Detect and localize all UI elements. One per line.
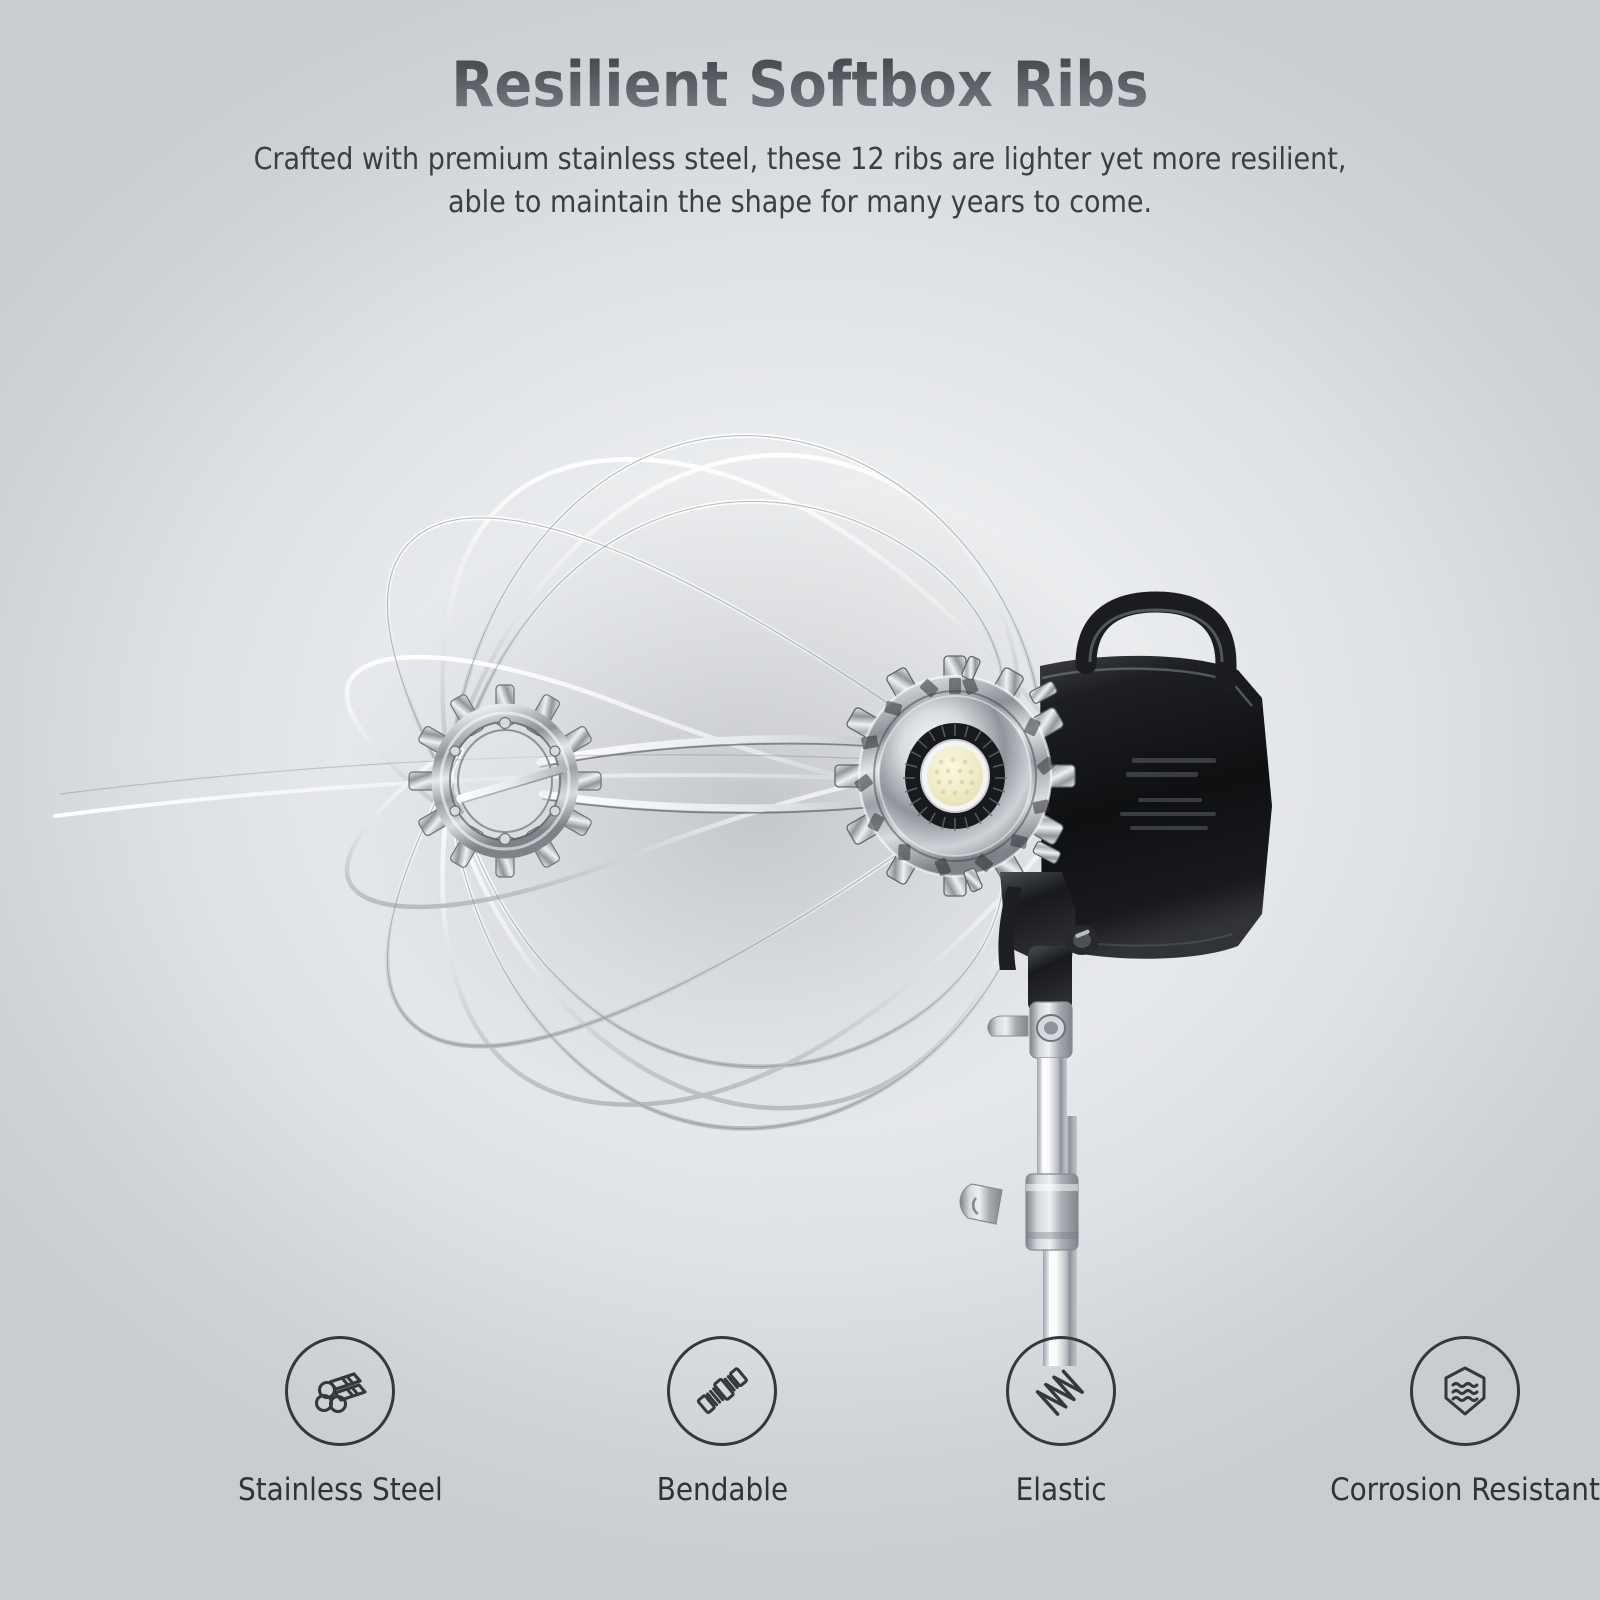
spring-zigzag-icon <box>1006 1336 1116 1446</box>
feature-label: Corrosion Resistant <box>1330 1472 1600 1508</box>
product-feature-banner: Resilient Softbox Ribs Crafted with prem… <box>0 0 1600 1600</box>
feature-item-elastic: Elastic <box>1006 1336 1116 1508</box>
feature-label: Bendable <box>657 1472 788 1508</box>
feature-list: Stainless Steel <box>0 1336 1600 1508</box>
header: Resilient Softbox Ribs Crafted with prem… <box>0 0 1600 224</box>
page-title: Resilient Softbox Ribs <box>0 0 1600 117</box>
steel-rods-icon <box>285 1336 395 1446</box>
feature-item-bendable: Bendable <box>657 1336 788 1508</box>
shield-waves-icon <box>1410 1336 1520 1446</box>
feature-item-stainless-steel: Stainless Steel <box>238 1336 443 1508</box>
feature-label: Stainless Steel <box>238 1472 443 1508</box>
feature-item-corrosion-resistant: Corrosion Resistant <box>1330 1336 1600 1508</box>
feature-label: Elastic <box>1016 1472 1107 1508</box>
bendable-hose-icon <box>667 1336 777 1446</box>
product-image <box>0 246 1600 1366</box>
page-subtitle: Crafted with premium stainless steel, th… <box>240 117 1360 224</box>
cob-led-chip <box>927 746 983 806</box>
